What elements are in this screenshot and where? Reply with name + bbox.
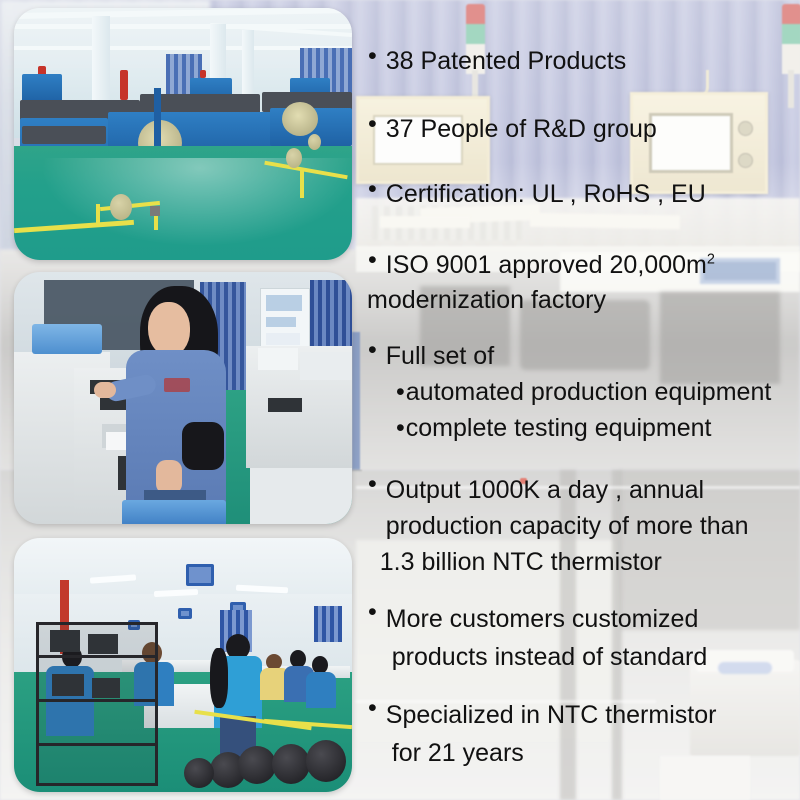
bullet-icon: •	[368, 112, 377, 137]
sub-bullet-testing: • complete testing equipment	[396, 410, 771, 446]
production-floor-photo	[14, 8, 352, 260]
bullet-output-capacity: • Output 1000K a day , annual production…	[368, 472, 748, 580]
bullet-text: ISO 9001 approved 20,000m2	[386, 248, 715, 283]
photo-column	[0, 0, 352, 800]
bullet-rd-group: • 37 People of R&D group	[368, 112, 657, 146]
bullet-full-set: • Full set of • automated production equ…	[368, 338, 771, 446]
sub-bullet-text: automated production equipment	[406, 374, 772, 410]
bullet-icon: •	[368, 248, 377, 273]
bullet-text-wrap: modernization factory	[367, 283, 715, 318]
slide-root: • 38 Patented Products • 37 People of R&…	[0, 0, 800, 800]
bullet-text-wrap: production capacity of more than	[386, 508, 749, 544]
bullet-icon: •	[368, 338, 377, 363]
bullet-iso-factory: • ISO 9001 approved 20,000m2 modernizati…	[368, 248, 715, 318]
bullet-icon: •	[368, 44, 377, 69]
bullet-list: • 38 Patented Products • 37 People of R&…	[352, 0, 800, 800]
bullet-customized-products: • More customers customized products ins…	[368, 600, 707, 676]
bullet-specialization: • Specialized in NTC thermistor for 21 y…	[368, 696, 716, 772]
bullet-icon: •	[396, 410, 405, 446]
sub-bullet-text: complete testing equipment	[406, 410, 712, 446]
bullet-text: More customers customized	[386, 600, 707, 638]
bullet-text: Certification: UL , RoHS , EU	[386, 177, 706, 211]
bullet-icon: •	[368, 472, 377, 497]
bullet-text-wrap: 1.3 billion NTC thermistor	[380, 544, 749, 580]
bullet-text: Output 1000K a day , annual	[386, 472, 749, 508]
bullet-icon: •	[368, 600, 377, 625]
bullet-text: Specialized in NTC thermistor	[386, 696, 717, 734]
bullet-text: Full set of	[386, 338, 772, 374]
bullet-icon: •	[396, 374, 405, 410]
bullet-text: 38 Patented Products	[386, 44, 626, 78]
bullet-text-wrap: products instead of standard	[392, 638, 707, 676]
bullet-icon: •	[368, 696, 377, 721]
assembly-line-photo	[14, 538, 352, 792]
sub-bullet-automated: • automated production equipment	[396, 374, 771, 410]
bullet-icon: •	[368, 177, 377, 202]
operator-photo	[14, 272, 352, 524]
bullet-text-wrap: for 21 years	[392, 734, 717, 772]
bullet-certification: • Certification: UL , RoHS , EU	[368, 177, 706, 211]
bullet-patented-products: • 38 Patented Products	[368, 44, 626, 78]
bullet-text: 37 People of R&D group	[386, 112, 657, 146]
